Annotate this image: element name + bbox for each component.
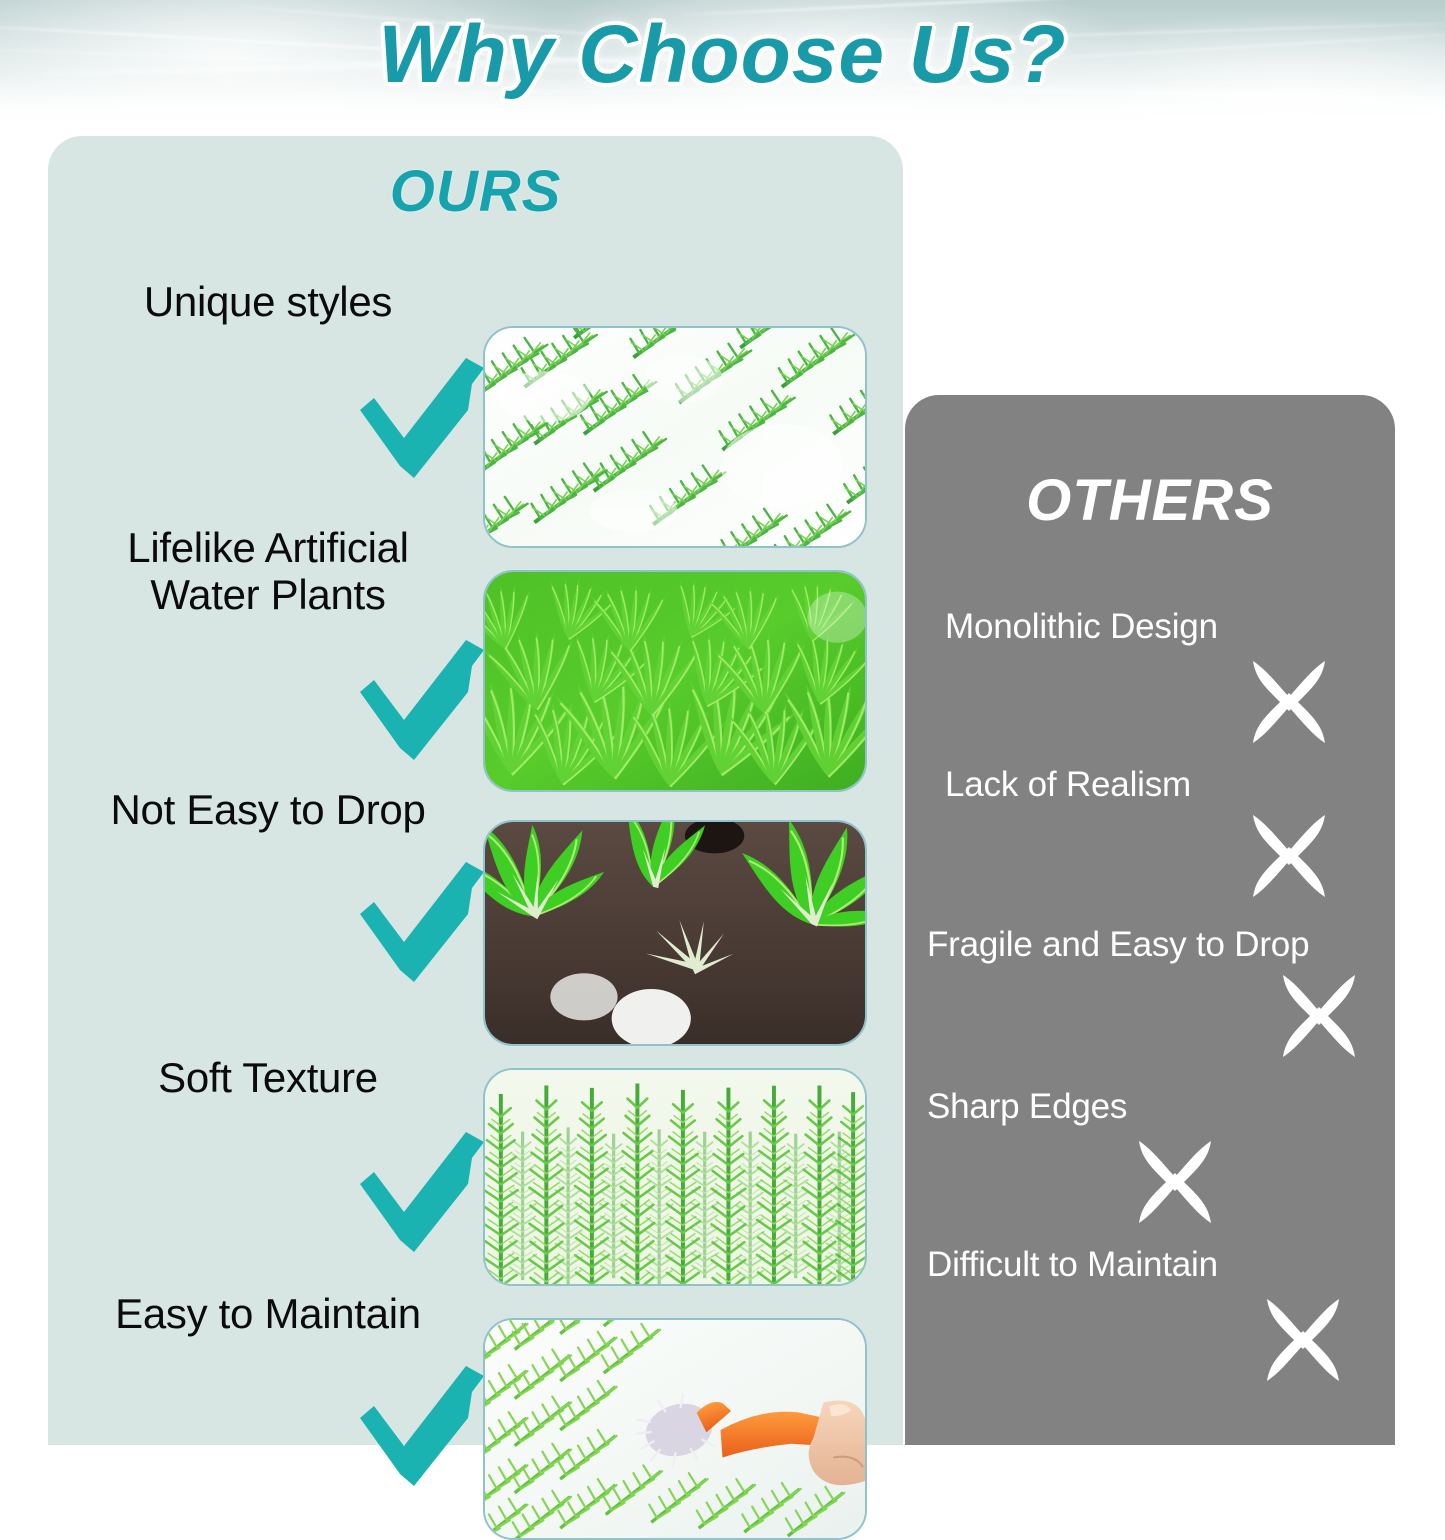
ours-row: Soft Texture <box>48 976 903 1224</box>
ours-item-label-wrap: Unique styles <box>58 278 478 325</box>
cross-icon <box>1247 813 1331 899</box>
ours-heading: OURS <box>48 158 903 225</box>
cross-icon-glyph <box>1277 973 1361 1059</box>
cross-icon <box>1277 973 1361 1059</box>
check-icon <box>356 858 488 986</box>
cross-icon-glyph <box>1247 813 1331 899</box>
others-row: Difficult to Maintain <box>905 1235 1395 1405</box>
check-icon-glyph <box>356 858 488 986</box>
ours-item-label: Not Easy to Drop <box>58 786 478 833</box>
cross-icon-glyph <box>1247 659 1331 745</box>
ours-row: Not Easy to Drop <box>48 728 903 976</box>
cross-icon <box>1133 1139 1217 1225</box>
others-row: Lack of Realism <box>905 755 1395 915</box>
others-row: Fragile and Easy to Drop <box>905 915 1395 1075</box>
check-icon-glyph <box>356 1362 488 1490</box>
hand-brush-cleaning-plant-photo <box>485 1320 865 1538</box>
ours-item-label-wrap: Lifelike Artificial Water Plants <box>58 524 478 619</box>
others-row: Sharp Edges <box>905 1075 1395 1235</box>
cross-icon-glyph <box>1261 1297 1345 1383</box>
ours-item-image <box>483 1318 867 1540</box>
ours-item-label: Easy to Maintain <box>58 1290 478 1337</box>
others-item-label: Fragile and Easy to Drop <box>927 925 1309 965</box>
check-icon-glyph <box>356 354 488 482</box>
others-panel: OTHERS Monolithic Design Lack of Realism… <box>905 395 1395 1445</box>
ours-item-label: Unique styles <box>58 278 478 325</box>
others-item-label: Lack of Realism <box>945 765 1191 805</box>
ours-item-label: Soft Texture <box>58 1054 478 1101</box>
cross-icon <box>1247 659 1331 745</box>
others-item-label: Sharp Edges <box>927 1087 1127 1127</box>
ours-panel: OURS Unique styles <box>48 136 903 1445</box>
ours-row: Lifelike Artificial Water Plants <box>48 480 903 728</box>
others-heading: OTHERS <box>905 467 1395 534</box>
check-icon <box>356 354 488 482</box>
others-row: Monolithic Design <box>905 595 1395 755</box>
ours-item-label-wrap: Soft Texture <box>58 1054 478 1101</box>
check-icon <box>356 1362 488 1490</box>
ours-row: Easy to Maintain <box>48 1224 903 1445</box>
cross-icon-glyph <box>1133 1139 1217 1225</box>
others-item-label: Difficult to Maintain <box>927 1245 1218 1285</box>
ours-item-label: Lifelike Artificial Water Plants <box>58 524 478 619</box>
page-title: Why Choose Us? <box>0 8 1445 102</box>
cross-icon <box>1261 1297 1345 1383</box>
ours-item-label-wrap: Easy to Maintain <box>58 1290 478 1337</box>
ours-item-label-wrap: Not Easy to Drop <box>58 786 478 833</box>
ours-row: Unique styles <box>48 232 903 480</box>
others-item-label: Monolithic Design <box>945 607 1218 647</box>
